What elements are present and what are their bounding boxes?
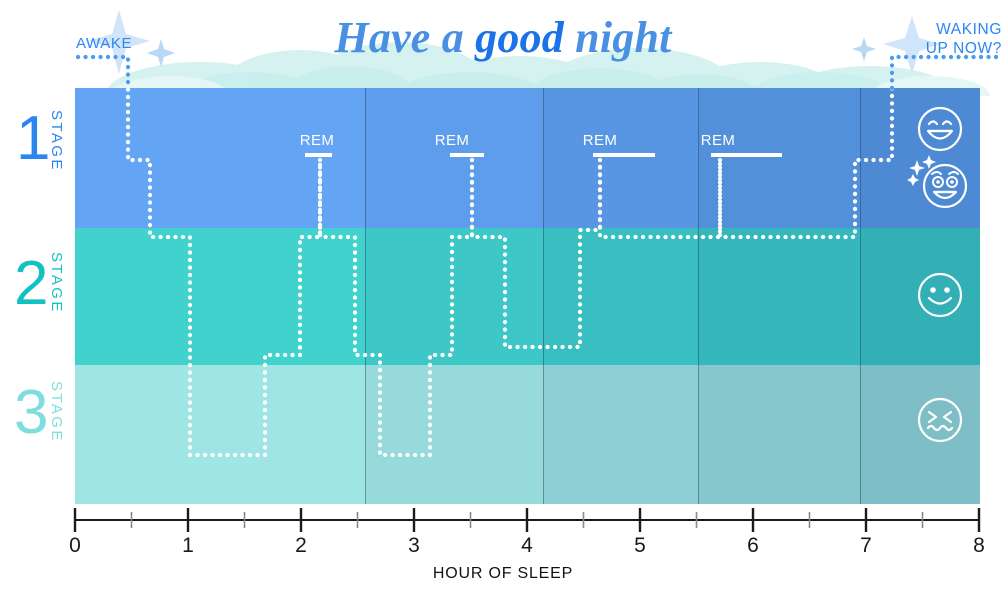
rem-bar-3 [593,153,655,157]
rem-label-2: REM [422,132,482,149]
dizzy-starry-face-icon [905,152,971,212]
x-tick-label-3: 3 [394,534,434,558]
rem-bar-4 [711,153,782,157]
stage-2-number: 2 [14,253,48,315]
stage-2-word: STAGE [48,252,65,314]
x-tick-label-2: 2 [281,534,321,558]
x-tick-label-5: 5 [620,534,660,558]
waking-up-label: WAKING UP NOW? [906,20,1002,58]
x-tick-label-6: 6 [733,534,773,558]
x-axis [0,0,1006,600]
x-tick-label-0: 0 [55,534,95,558]
rem-bar-2 [450,153,484,157]
x-tick-label-8: 8 [959,534,999,558]
awake-label: AWAKE [76,34,132,53]
waking-label-line1: WAKING [936,21,1002,38]
x-axis-title: HOUR OF SLEEP [0,565,1006,583]
x-tick-label-1: 1 [168,534,208,558]
stage-3-word: STAGE [48,381,65,443]
rem-bar-1 [305,153,332,157]
smiling-face-icon [915,270,965,320]
grinning-closed-eyes-face-icon [915,104,965,154]
rem-label-4: REM [688,132,748,149]
x-tick-label-7: 7 [846,534,886,558]
squinting-wavy-mouth-face-icon [915,395,965,445]
sleep-cycle-infographic: AWAKE WAKING UP NOW? 1 STAGE 2 STAGE 3 S… [0,0,1006,600]
stage-1-number: 1 [16,108,50,170]
x-tick-label-4: 4 [507,534,547,558]
stage-1-word: STAGE [48,110,65,172]
rem-label-1: REM [287,132,347,149]
waking-label-line2: UP NOW? [926,40,1002,57]
stage-3-number: 3 [14,382,48,444]
rem-label-3: REM [570,132,630,149]
